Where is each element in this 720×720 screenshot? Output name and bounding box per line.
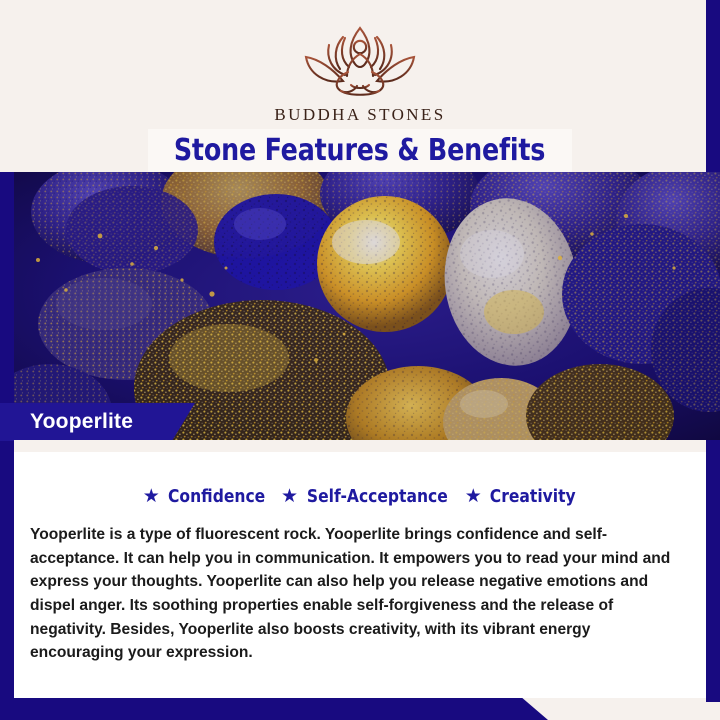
benefit-label: Confidence: [168, 486, 265, 507]
stone-description: Yooperlite is a type of fluorescent rock…: [30, 523, 684, 665]
lotus-meditation-icon: [285, 22, 435, 100]
benefits-list: ★ Confidence ★ Self-Acceptance ★ Creativ…: [14, 486, 706, 507]
page-title: Stone Features & Benefits: [174, 133, 545, 168]
benefit-item-self-acceptance: ★ Self-Acceptance: [281, 486, 451, 507]
star-icon: ★: [281, 487, 298, 506]
stone-name-label: Yooperlite: [30, 410, 133, 434]
stone-name-banner: Yooperlite: [0, 403, 195, 441]
benefit-label: Self-Acceptance: [307, 486, 448, 507]
stone-info-card: ★ Confidence ★ Self-Acceptance ★ Creativ…: [14, 440, 706, 698]
fluorescent-stones-illustration: [14, 172, 720, 440]
infographic-page: BUDDHA STONES Stone Features & Benefits: [0, 0, 720, 720]
brand-logo: BUDDHA STONES: [274, 22, 445, 125]
benefit-item-confidence: ★ Confidence: [143, 486, 267, 507]
benefit-item-creativity: ★ Creativity: [465, 486, 578, 507]
hero-image: [14, 172, 720, 440]
page-title-plaque: Stone Features & Benefits: [148, 129, 572, 172]
star-icon: ★: [465, 487, 482, 506]
bottom-bar-decoration: [0, 696, 720, 720]
brand-name: BUDDHA STONES: [274, 105, 445, 125]
star-icon: ★: [143, 487, 160, 506]
benefit-label: Creativity: [490, 486, 576, 507]
